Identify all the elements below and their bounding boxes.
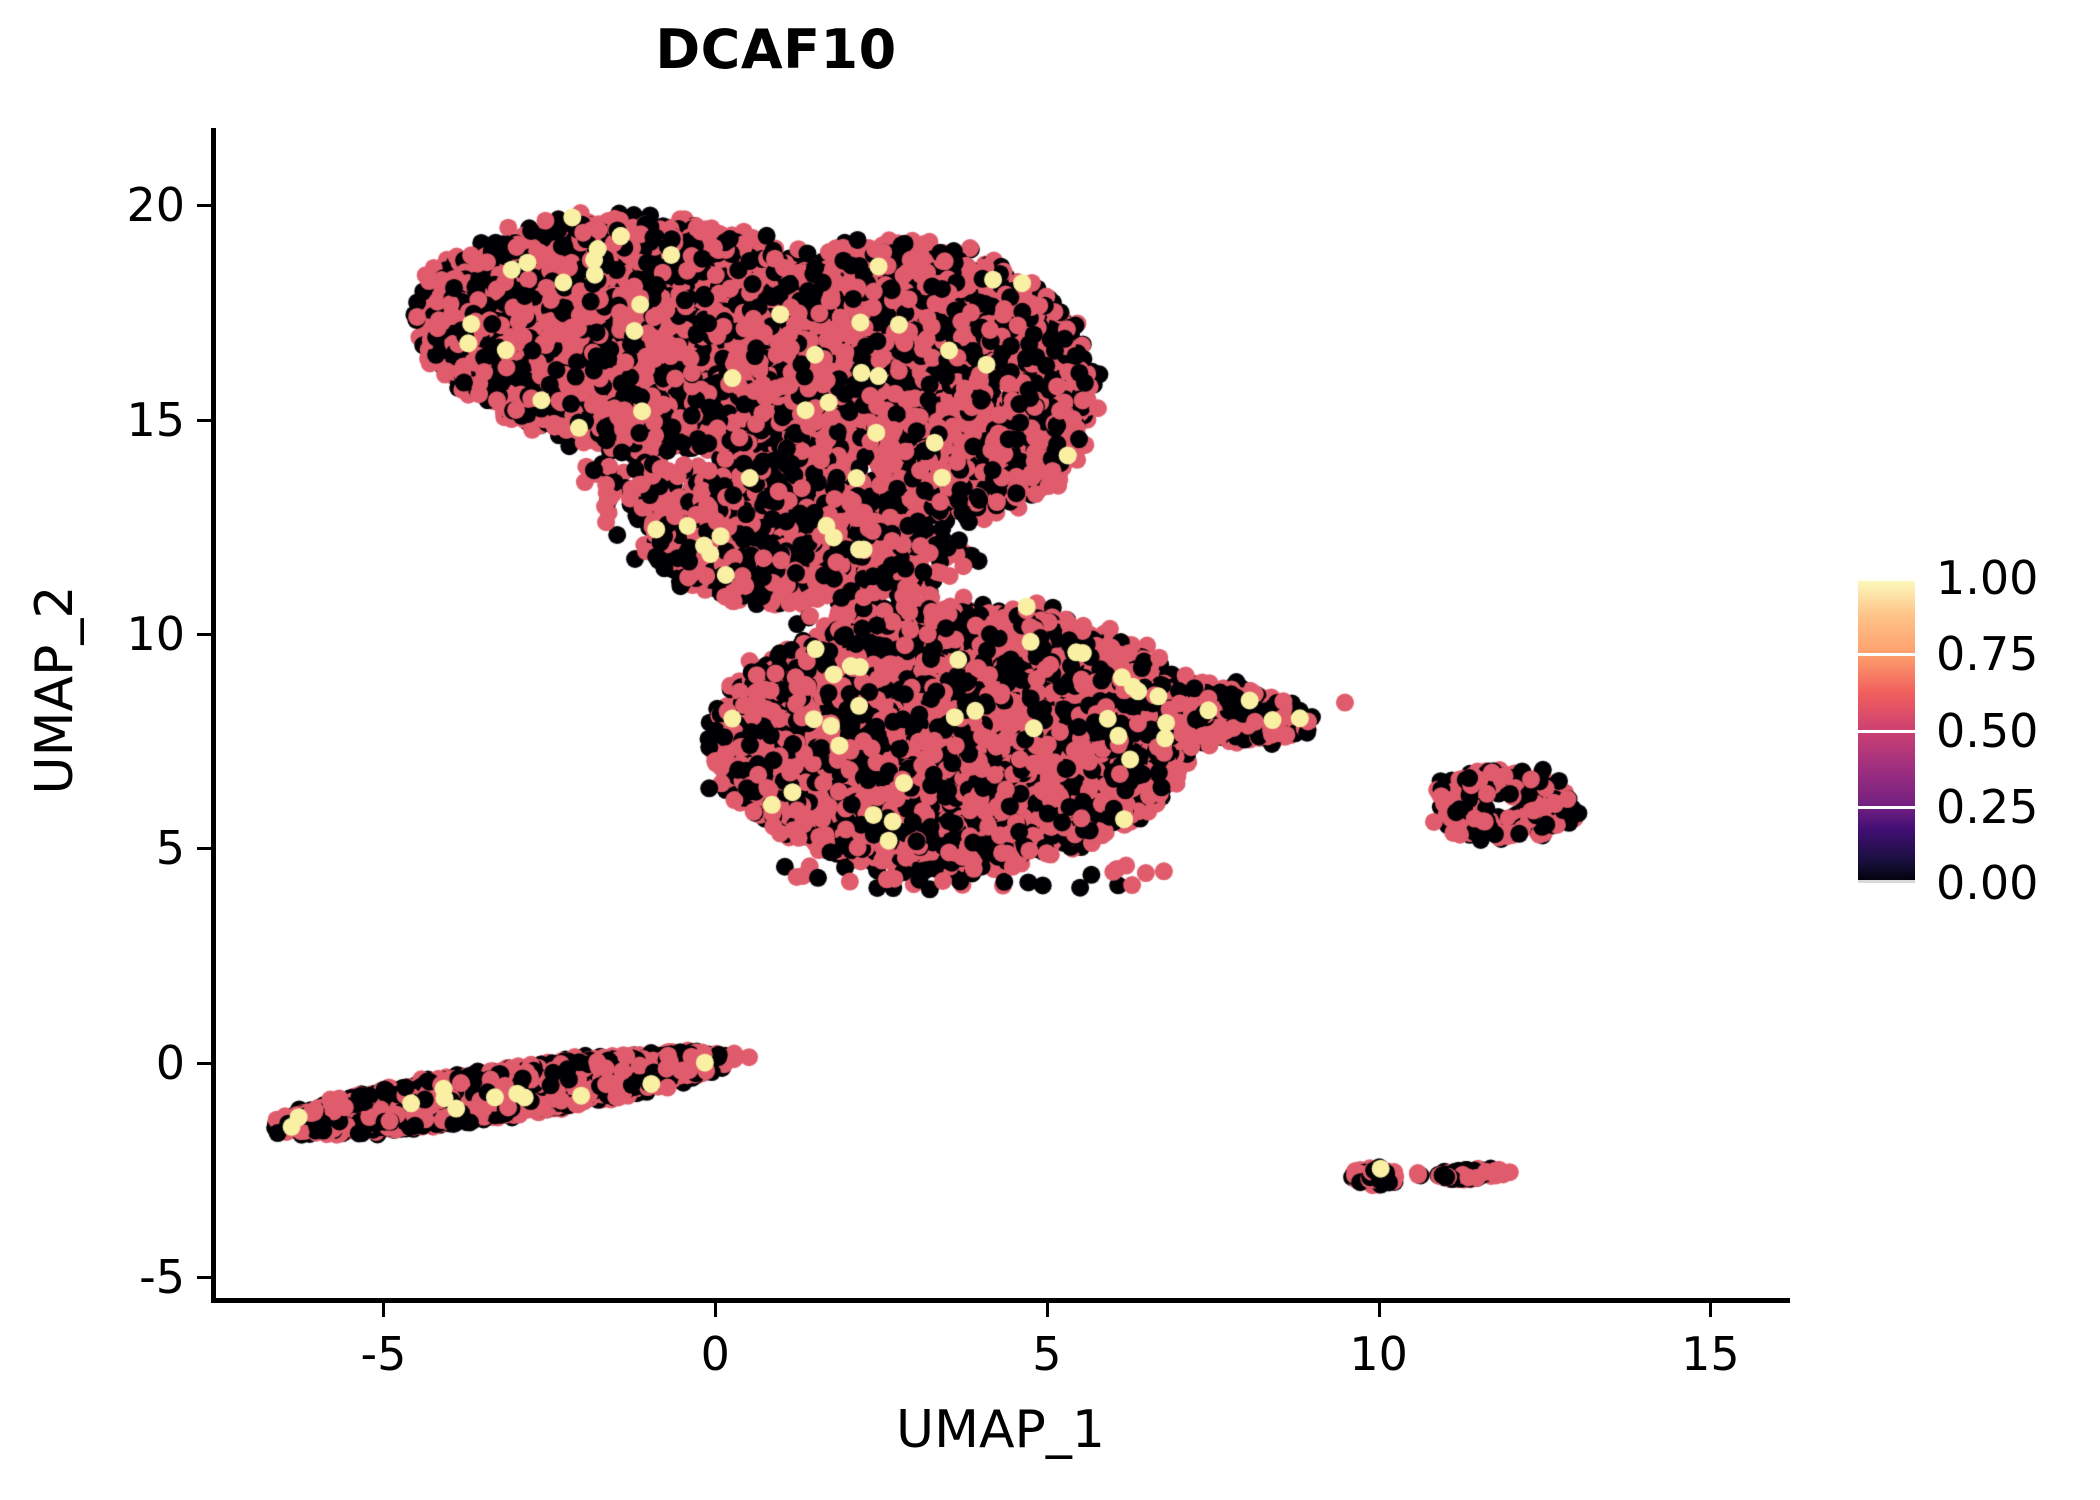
y-axis-label: UMAP_2 bbox=[25, 370, 85, 1010]
y-tick-label: 15 bbox=[126, 393, 185, 447]
y-tick-label: 5 bbox=[156, 821, 185, 875]
x-tick-mark bbox=[714, 1303, 717, 1317]
y-tick-mark bbox=[197, 204, 211, 207]
y-tick-label: 0 bbox=[156, 1036, 185, 1090]
x-tick-label: -5 bbox=[361, 1327, 407, 1381]
y-tick-mark bbox=[197, 419, 211, 422]
colorbar-tick-mark bbox=[1858, 653, 1915, 656]
plot-axes: -5051015 -505101520 bbox=[211, 128, 1790, 1303]
colorbar-tick-label: 0.25 bbox=[1936, 780, 2038, 834]
x-tick-label: 0 bbox=[701, 1327, 730, 1381]
y-tick-mark bbox=[197, 633, 211, 636]
colorbar: 0.000.250.500.751.00 bbox=[1858, 578, 2088, 888]
colorbar-tick-label: 0.00 bbox=[1936, 856, 2038, 910]
page-title: DCAF10 bbox=[211, 18, 1341, 81]
y-tick-label: -5 bbox=[139, 1250, 185, 1304]
colorbar-tick-mark bbox=[1858, 578, 1915, 581]
y-axis-spine bbox=[211, 128, 216, 1303]
y-tick-mark bbox=[197, 1062, 211, 1065]
y-tick-label: 20 bbox=[126, 178, 185, 232]
x-tick-label: 10 bbox=[1349, 1327, 1408, 1381]
colorbar-tick-mark bbox=[1858, 880, 1915, 883]
colorbar-tick-label: 1.00 bbox=[1936, 551, 2038, 605]
y-tick-mark bbox=[197, 1276, 211, 1279]
y-tick-label: 10 bbox=[126, 607, 185, 661]
x-tick-mark bbox=[1378, 1303, 1381, 1317]
x-tick-mark bbox=[1709, 1303, 1712, 1317]
colorbar-tick-label: 0.75 bbox=[1936, 627, 2038, 681]
colorbar-tick-mark bbox=[1858, 806, 1915, 809]
x-tick-label: 5 bbox=[1032, 1327, 1061, 1381]
colorbar-tick-mark bbox=[1858, 730, 1915, 733]
x-tick-label: 15 bbox=[1681, 1327, 1740, 1381]
x-tick-mark bbox=[382, 1303, 385, 1317]
x-tick-mark bbox=[1046, 1303, 1049, 1317]
umap-feature-plot-figure: DCAF10 -5051015 -505101520 UMAP_1 UMAP_2… bbox=[0, 0, 2100, 1500]
x-axis-spine bbox=[211, 1298, 1790, 1303]
y-tick-mark bbox=[197, 847, 211, 850]
colorbar-tick-label: 0.50 bbox=[1936, 704, 2038, 758]
x-axis-label: UMAP_1 bbox=[211, 1400, 1790, 1460]
